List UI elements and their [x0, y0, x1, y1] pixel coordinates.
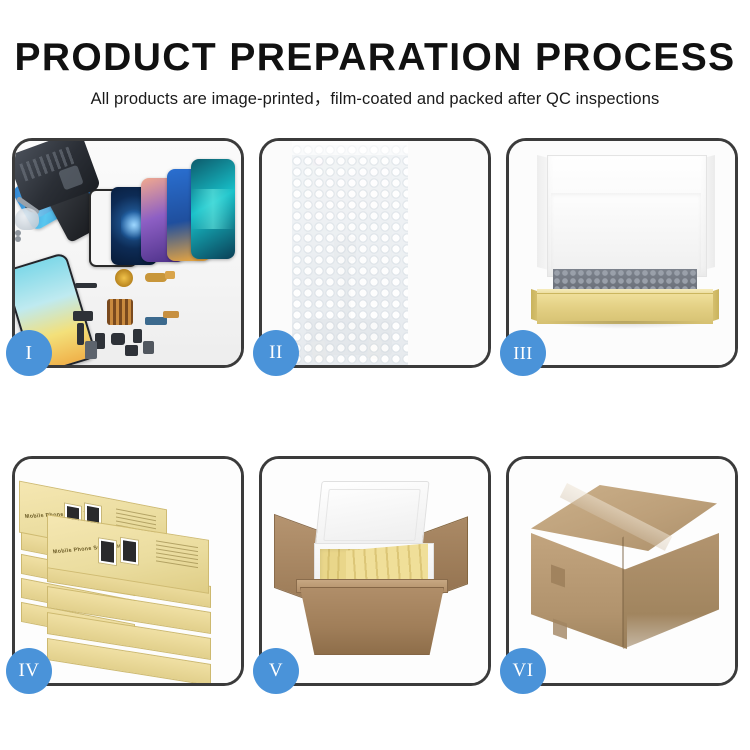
screw-2 [15, 236, 21, 242]
step-numeral-4: IV [18, 660, 39, 682]
carton-corner-seam [622, 536, 624, 647]
bubble-bag-seal [292, 141, 408, 155]
box-stack: Mobile Phone Spare Parts Mobile Phone Sp… [19, 481, 239, 673]
carton-front-face [531, 533, 627, 649]
bubble-wrap-bag [292, 145, 408, 365]
carton-front-panel [300, 587, 444, 655]
gold-flex-cable [145, 273, 167, 282]
step-badge-6: VI [500, 648, 546, 694]
small-chip [125, 345, 138, 356]
flex-cable-b [77, 323, 84, 345]
box-spec-list-2 [156, 540, 198, 571]
page-title: PRODUCT PREPARATION PROCESS [0, 0, 750, 80]
step-badge-2: II [253, 330, 299, 376]
gold-contact-strip [163, 311, 179, 318]
process-step-panel-6: VI [506, 456, 738, 686]
step-badge-4: IV [6, 648, 52, 694]
logic-board-grid [107, 299, 133, 325]
vibration-motor [133, 329, 142, 343]
step-2-image [262, 141, 488, 365]
tray-shadow [543, 321, 707, 329]
speaker-module [115, 269, 133, 287]
foam-box-lid [314, 481, 429, 549]
process-step-panel-2: II [259, 138, 491, 368]
teal-wave-phone [191, 159, 235, 259]
step-numeral-5: V [269, 660, 283, 682]
step-4-image: Mobile Phone Spare Parts Mobile Phone Sp… [15, 459, 241, 683]
sim-tray [85, 341, 97, 359]
blue-flex-connector [145, 317, 167, 325]
step-3-image [509, 141, 735, 365]
sealed-carton-scene [509, 459, 735, 683]
step-numeral-1: I [25, 342, 32, 365]
step-badge-1: I [6, 330, 52, 376]
step-5-image [262, 459, 488, 683]
flex-cable-a [73, 311, 93, 321]
step-numeral-2: II [269, 342, 283, 364]
process-steps-grid: I [12, 138, 738, 686]
box-stack-scene: Mobile Phone Spare Parts Mobile Phone Sp… [15, 459, 241, 683]
process-step-panel-3: III [506, 138, 738, 368]
step-badge-3: III [500, 330, 546, 376]
step-1-image [15, 141, 241, 365]
step-6-image [509, 459, 735, 683]
product-preparation-page: PRODUCT PREPARATION PROCESS All products… [0, 0, 750, 750]
button-module [143, 341, 154, 354]
step-numeral-6: VI [512, 660, 533, 682]
process-step-panel-4: Mobile Phone Spare Parts Mobile Phone Sp… [12, 456, 244, 686]
connector-strip [75, 283, 97, 288]
step-numeral-3: III [513, 343, 532, 364]
carton-packing-scene [262, 459, 488, 683]
box-art-screen-2a [98, 537, 117, 566]
open-tray-box-scene [509, 141, 735, 365]
bubble-wrap-scene [262, 141, 488, 365]
hand-holding-part [15, 208, 39, 230]
step-badge-5: V [253, 648, 299, 694]
camera-module [111, 333, 125, 345]
page-subtitle: All products are image-printed，film-coat… [0, 80, 750, 109]
page-header: PRODUCT PREPARATION PROCESS All products… [0, 0, 750, 109]
process-step-panel-5: V [259, 456, 491, 686]
kraft-tray-front [537, 293, 713, 324]
carton-side-face [623, 533, 719, 649]
white-foam-sheet [551, 193, 701, 273]
box-art-screen-2b [120, 537, 139, 566]
small-gold-contact [165, 271, 175, 279]
process-step-panel-1: I [12, 138, 244, 368]
phone-parts-scene [15, 141, 241, 365]
